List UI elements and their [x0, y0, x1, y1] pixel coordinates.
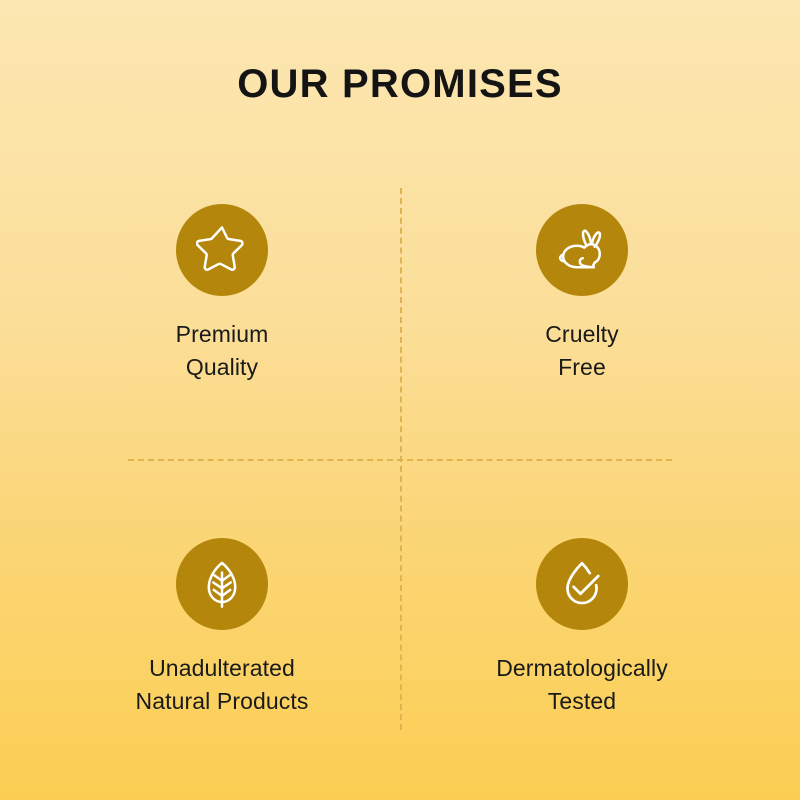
promise-icon-badge [536, 538, 628, 630]
promise-item-unadulterated-natural-products: Unadulterated Natural Products [62, 538, 382, 717]
our-promises-panel: OUR PROMISES Premium Quality [0, 0, 800, 800]
promise-label: Unadulterated Natural Products [136, 652, 309, 717]
promise-grid: Premium Quality [0, 0, 800, 800]
droplet-check-icon [556, 558, 608, 610]
promise-icon-badge [536, 204, 628, 296]
leaf-icon [196, 558, 248, 610]
promise-label: Premium Quality [176, 318, 269, 383]
promise-item-dermatologically-tested: Dermatologically Tested [422, 538, 742, 717]
promise-item-premium-quality: Premium Quality [62, 204, 382, 383]
promise-icon-badge [176, 538, 268, 630]
promise-item-cruelty-free: Cruelty Free [422, 204, 742, 383]
promise-icon-badge [176, 204, 268, 296]
promise-label: Dermatologically Tested [496, 652, 668, 717]
promise-label: Cruelty Free [545, 318, 619, 383]
star-icon [196, 224, 248, 276]
rabbit-icon [556, 224, 608, 276]
